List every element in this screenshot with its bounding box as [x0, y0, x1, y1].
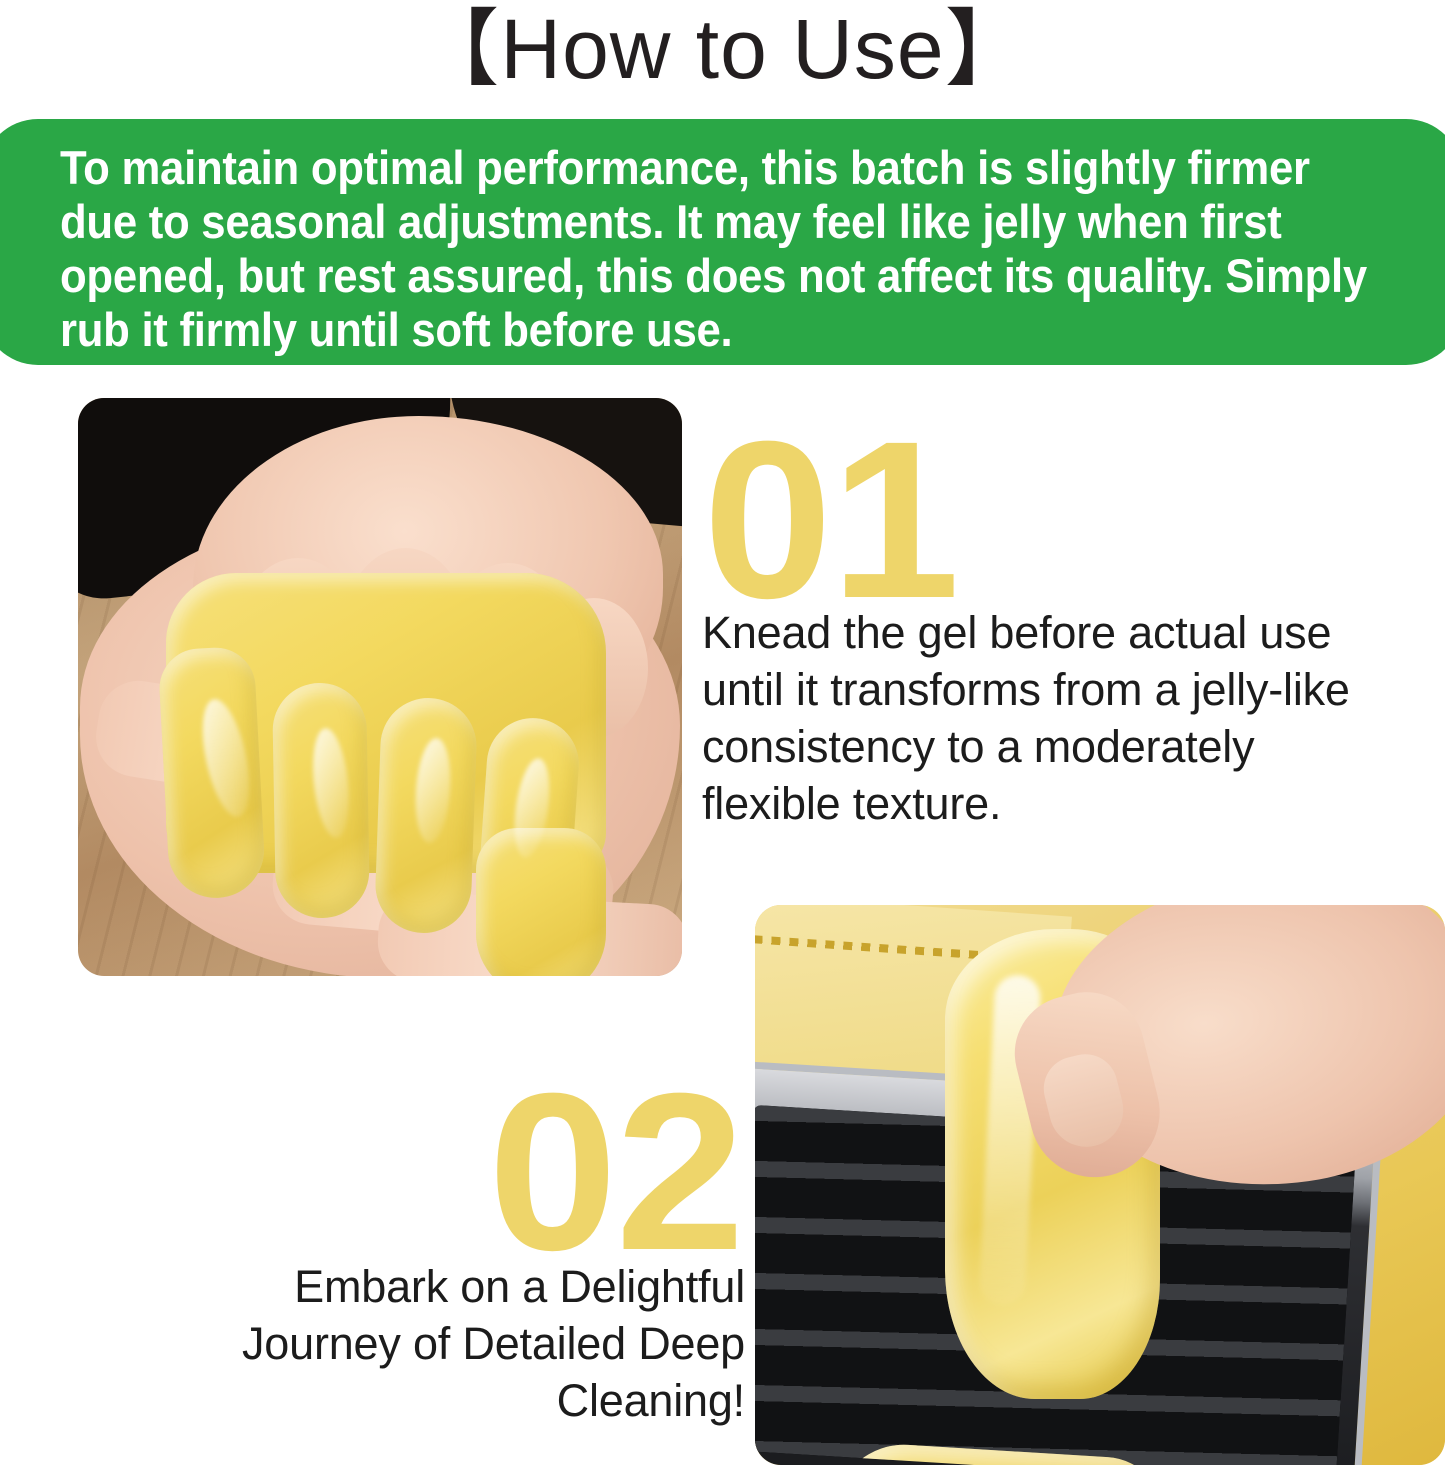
gel-drip [476, 828, 606, 976]
step-02-photo-car-vent [755, 905, 1445, 1465]
step-02-number: 02 [488, 1060, 743, 1284]
step-01-photo-knead-gel [78, 398, 682, 976]
step-01-description: Knead the gel before actual use until it… [702, 604, 1362, 832]
page-title: 【How to Use】 [0, 2, 1445, 96]
step-01-number: 01 [703, 408, 958, 632]
notice-banner: To maintain optimal performance, this ba… [0, 119, 1445, 365]
notice-text: To maintain optimal performance, this ba… [60, 141, 1390, 357]
step-02-description: Embark on a Delightful Journey of Detail… [140, 1258, 745, 1429]
